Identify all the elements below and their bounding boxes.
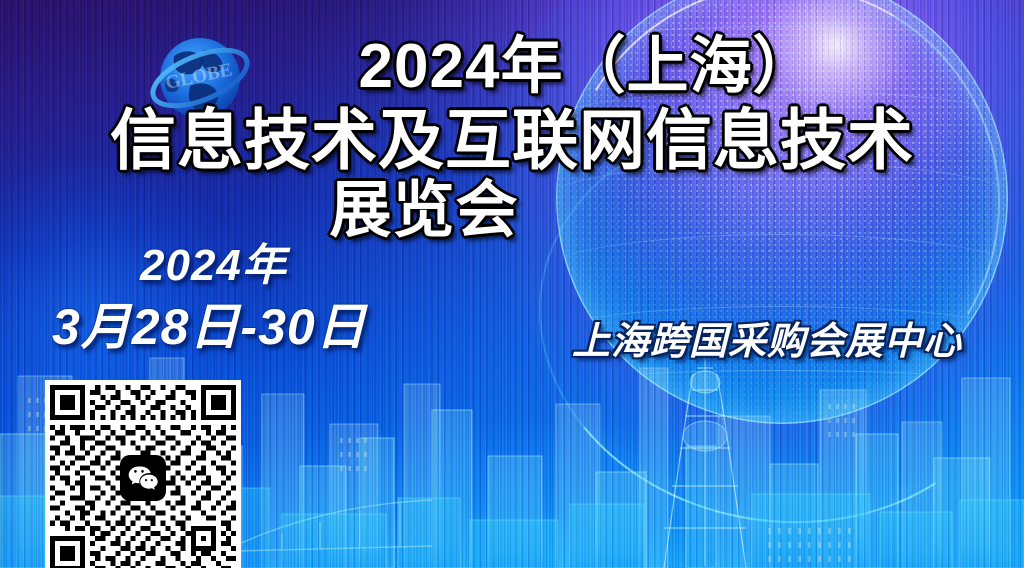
page-title: 2024年（上海） 信息技术及互联网信息技术 展览会: [0, 34, 1024, 243]
exhibition-banner: GLOBE 2024年（上海） 信息技术及互联网信息技术 展览会 2024年 3…: [0, 0, 1024, 568]
wechat-icon: [120, 455, 166, 501]
title-line-2: 信息技术及互联网信息技术: [0, 106, 1024, 176]
event-venue: 上海跨国采购会展中心: [572, 310, 962, 365]
wechat-qr-code[interactable]: [45, 380, 241, 568]
event-date: 2024年 3月28日-30日: [52, 244, 367, 352]
event-date-range: 3月28日-30日: [52, 302, 367, 352]
title-line-3: 展览会: [0, 178, 1024, 244]
title-line-1: 2024年（上海）: [0, 34, 1024, 100]
event-date-year: 2024年: [52, 244, 367, 288]
